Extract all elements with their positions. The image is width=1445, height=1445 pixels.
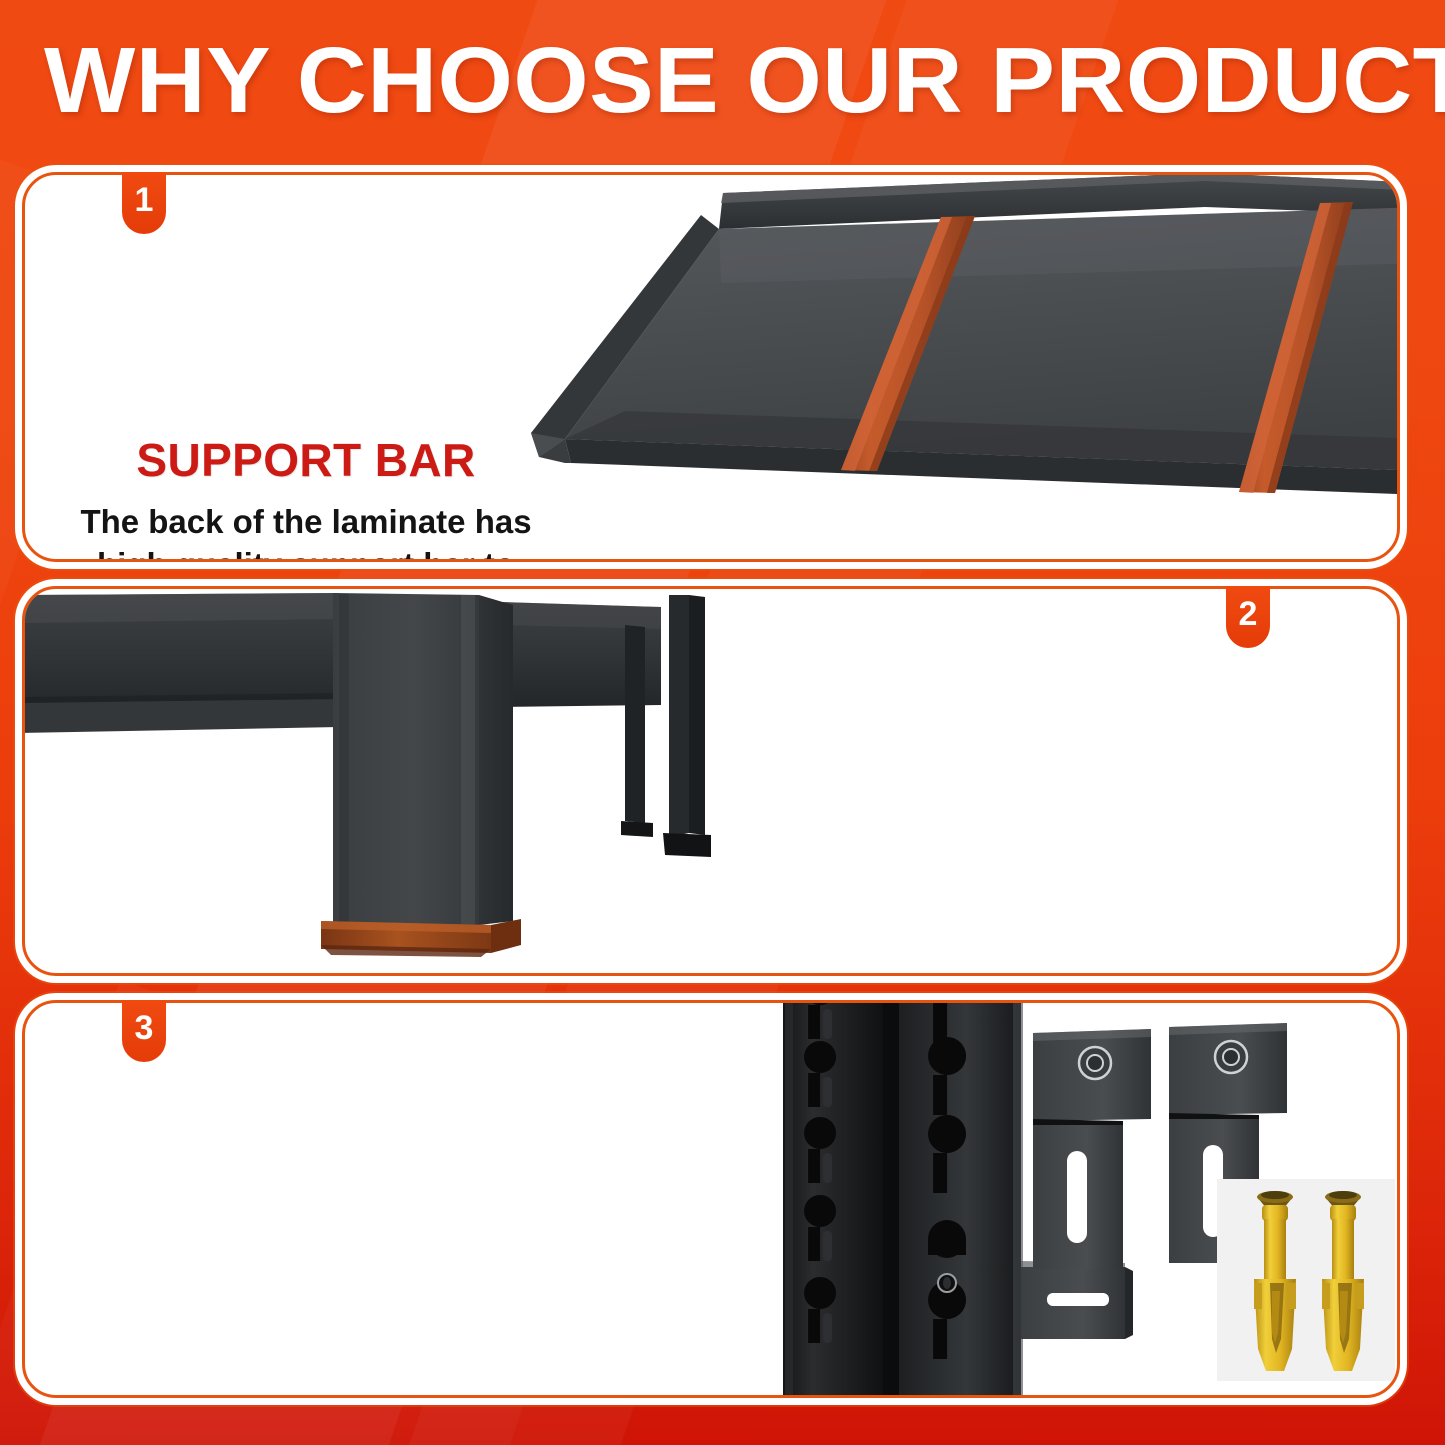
anti-tipping-clips-illustration <box>765 1001 1400 1398</box>
infographic-page: WHY CHOOSE OUR PRODUCT <box>0 0 1445 1445</box>
feature-3-number-badge: 3 <box>122 1000 166 1062</box>
foot-pad-leg-illustration <box>22 586 801 976</box>
feature-card-anti-tipping-clips: ANTI-TIPPING CLIPS Anti-tipping clips ke… <box>22 1000 1400 1398</box>
feature-1-text: SUPPORT BAR The back of the laminate has… <box>71 433 541 562</box>
feature-1-number-badge: 1 <box>122 172 166 234</box>
feature-card-foot-pads: FOOT PADS The Foot pads not only pro-tec… <box>22 586 1400 976</box>
feature-1-heading: SUPPORT BAR <box>71 433 541 487</box>
feature-2-number-badge: 2 <box>1226 586 1270 648</box>
support-bar-shelf-illustration <box>505 172 1400 562</box>
feature-1-body: The back of the laminate has high qualit… <box>71 501 541 562</box>
page-title: WHY CHOOSE OUR PRODUCT <box>44 26 1445 136</box>
feature-card-support-bar: SUPPORT BAR The back of the laminate has… <box>22 172 1400 562</box>
